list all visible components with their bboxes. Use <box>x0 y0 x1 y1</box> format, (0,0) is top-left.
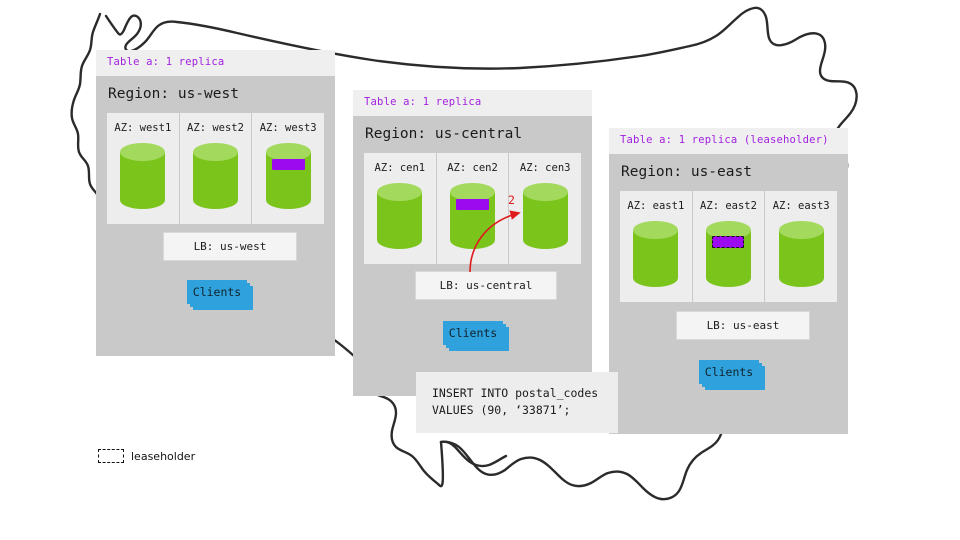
region-header-table-replica: Table a: 1 replica <box>96 50 335 76</box>
az-cell-east2[interactable]: AZ: east2 <box>693 191 766 302</box>
load-balancer-us-east[interactable]: LB: us-east <box>676 311 810 340</box>
az-label: AZ: east1 <box>627 200 684 212</box>
leaseholder-marker <box>712 236 744 248</box>
az-cell-west1[interactable]: AZ: west1 <box>107 113 180 224</box>
az-label: AZ: cen1 <box>375 162 426 174</box>
region-header-table-replica: Table a: 1 replica (leaseholder) <box>609 128 848 154</box>
az-label: AZ: west2 <box>187 122 244 134</box>
az-label: AZ: cen2 <box>447 162 498 174</box>
node-cylinder[interactable] <box>377 183 422 249</box>
az-row: AZ: west1 AZ: west2 AZ <box>107 113 324 224</box>
az-cell-east1[interactable]: AZ: east1 <box>620 191 693 302</box>
replica-marker <box>456 199 489 210</box>
az-label: AZ: east2 <box>700 200 757 212</box>
clients-button[interactable]: Clients <box>187 280 247 304</box>
region-title: Region: us-east <box>620 154 837 192</box>
clients-button[interactable]: Clients <box>443 321 503 345</box>
region-title: Region: us-central <box>364 116 581 154</box>
az-label: AZ: east3 <box>773 200 830 212</box>
az-cell-cen3[interactable]: AZ: cen3 <box>509 153 581 264</box>
load-balancer-us-west[interactable]: LB: us-west <box>163 232 297 261</box>
region-header-table-replica: Table a: 1 replica <box>353 90 592 116</box>
az-cell-east3[interactable]: AZ: east3 <box>765 191 837 302</box>
az-label: AZ: cen3 <box>520 162 571 174</box>
az-cell-cen2[interactable]: AZ: cen2 <box>437 153 510 264</box>
region-title: Region: us-west <box>107 76 324 114</box>
sql-statement-box: INSERT INTO postal_codes VALUES (90, ‘33… <box>416 372 618 433</box>
clients-us-central[interactable]: Clients <box>443 321 509 349</box>
node-cylinder[interactable] <box>193 143 238 209</box>
clients-button[interactable]: Clients <box>699 360 759 384</box>
leaseholder-swatch-icon <box>98 449 124 463</box>
legend-label: leaseholder <box>131 450 195 463</box>
routing-arrow-label: 2 <box>508 193 515 207</box>
az-cell-west2[interactable]: AZ: west2 <box>180 113 253 224</box>
replica-marker <box>272 159 305 170</box>
clients-us-west[interactable]: Clients <box>187 280 253 308</box>
node-cylinder[interactable] <box>120 143 165 209</box>
diagram-canvas: Table a: 1 replica Region: us-west AZ: w… <box>0 0 960 540</box>
az-row: AZ: cen1 AZ: cen2 <box>364 153 581 264</box>
az-cell-cen1[interactable]: AZ: cen1 <box>364 153 437 264</box>
node-cylinder[interactable] <box>779 221 824 287</box>
node-cylinder[interactable] <box>450 183 495 249</box>
node-cylinder[interactable] <box>633 221 678 287</box>
az-label: AZ: west1 <box>114 122 171 134</box>
az-row: AZ: east1 AZ: east2 <box>620 191 837 302</box>
node-cylinder[interactable] <box>706 221 751 287</box>
node-cylinder[interactable] <box>266 143 311 209</box>
load-balancer-us-central[interactable]: LB: us-central <box>415 271 557 300</box>
az-cell-west3[interactable]: AZ: west3 <box>252 113 324 224</box>
clients-us-east[interactable]: Clients <box>699 360 765 388</box>
node-cylinder[interactable] <box>523 183 568 249</box>
legend: leaseholder <box>98 449 195 463</box>
az-label: AZ: west3 <box>260 122 317 134</box>
